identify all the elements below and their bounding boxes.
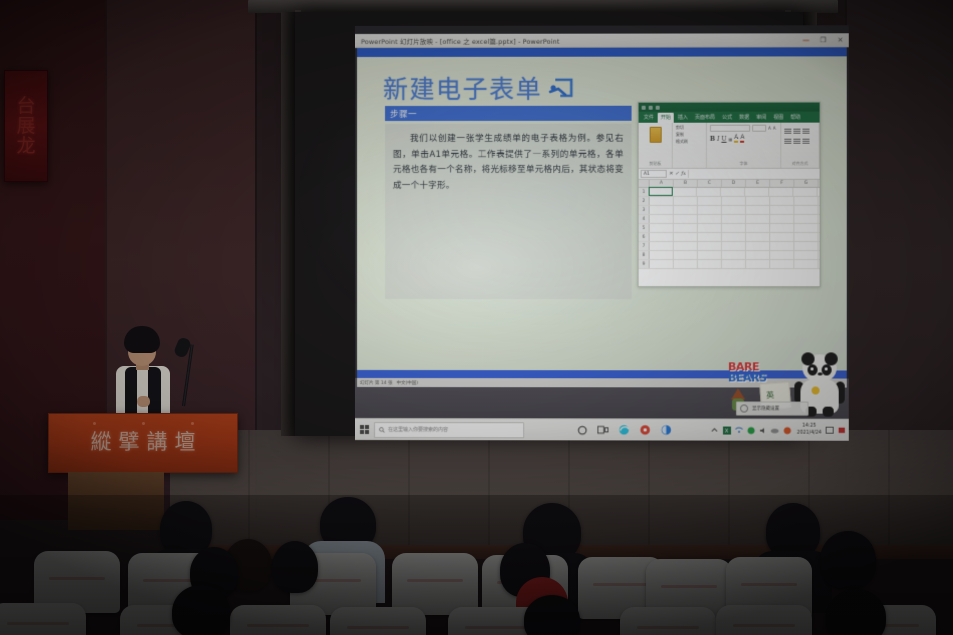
ribbon-group-label: 剪贴板 [639, 161, 672, 167]
column-header-g[interactable]: G [794, 180, 818, 187]
cell-f3[interactable] [770, 206, 794, 214]
excel-ribbon: 剪贴板 剪切 复制 格式刷 A [639, 123, 820, 169]
undo-icon [649, 105, 653, 109]
cell-e4[interactable] [746, 215, 770, 223]
ribbon-group-clipboard-commands: 剪切 复制 格式刷 [673, 123, 707, 168]
cell-g7[interactable] [794, 242, 818, 250]
svg-text:X: X [725, 428, 729, 434]
podium-char: 擘 [119, 432, 140, 453]
borders-icon[interactable]: ▦ [729, 136, 733, 141]
align-top-icon[interactable] [784, 129, 791, 135]
cell-f7[interactable] [770, 242, 794, 250]
screen-left-edge [281, 12, 295, 436]
cell-c3[interactable] [698, 206, 722, 214]
windows-logo-icon [359, 425, 368, 434]
row-header-5[interactable]: 5 [639, 224, 650, 232]
network-icon[interactable] [734, 426, 743, 435]
save-icon [642, 105, 646, 109]
podium-char: 壇 [175, 432, 196, 453]
step-header-bar: 步骤一 [385, 106, 632, 121]
cell-d6[interactable] [722, 233, 746, 241]
excel-ribbon-tabs: 文件 开始 插入 页面布局 公式 数据 审阅 视图 帮助 [639, 112, 820, 123]
cell-c5[interactable] [698, 224, 722, 232]
seat [392, 553, 478, 615]
ribbon-group-label: 对齐方式 [781, 161, 818, 167]
bold-icon[interactable]: B [710, 135, 715, 142]
presentation-slide: 新建电子表单 步骤一 我们以创建一张学生成绩单 [357, 47, 847, 378]
cell-f5[interactable] [770, 224, 794, 232]
audience-head [272, 541, 318, 593]
table-row: 7 [639, 242, 820, 251]
slide-body-text: 我们以创建一张学生成绩单的电子表格为例。参见右图，单击A1单元格。工作表提供了一… [385, 124, 632, 194]
table-row: 8 [639, 251, 820, 260]
excel-tab-home[interactable]: 开始 [658, 113, 674, 123]
fill-color-icon[interactable]: A [734, 135, 738, 143]
excel-tab-insert[interactable]: 插入 [675, 113, 691, 123]
show-hidden-icons-chevron[interactable] [710, 426, 719, 435]
cell-c1[interactable] [697, 188, 721, 196]
excel-tab-page-layout[interactable]: 页面布局 [692, 113, 718, 123]
cell-b8[interactable] [674, 251, 698, 259]
align-bottom-icon[interactable] [802, 129, 809, 135]
cell-b1[interactable] [673, 188, 697, 196]
slide-title: 新建电子表单 [383, 70, 542, 106]
powerpoint-titlebar: PowerPoint 幻灯片放映 - [office 之 excel篇.pptx… [355, 33, 849, 48]
panda-badge [812, 387, 820, 395]
system-tray: X [710, 424, 848, 437]
cell-c9[interactable] [698, 260, 722, 268]
projected-desktop: PowerPoint 幻灯片放映 - [office 之 excel篇.pptx… [355, 25, 849, 441]
panda-leg-right [823, 407, 834, 417]
formula-input[interactable] [688, 170, 818, 178]
excel-tab-formulas[interactable]: 公式 [719, 113, 735, 123]
font-name-box[interactable] [710, 125, 750, 132]
cell-b2[interactable] [674, 197, 698, 205]
increase-font-icon[interactable]: A [768, 126, 771, 131]
redo-icon [656, 105, 660, 109]
panda-head [802, 354, 836, 382]
format-painter-label[interactable]: 格式刷 [676, 139, 688, 145]
copy-label[interactable]: 复制 [676, 132, 684, 138]
banner-char: 展 [16, 117, 35, 136]
cut-label[interactable]: 剪切 [676, 125, 684, 131]
maximize-button[interactable]: ❐ [815, 33, 832, 46]
audience-head [826, 589, 886, 635]
projection-screen-surface: PowerPoint 幻灯片放映 - [office 之 excel篇.pptx… [295, 12, 803, 436]
search-input[interactable]: 在这里输入你要搜索的内容 [374, 422, 524, 438]
popup-icon[interactable] [740, 404, 748, 412]
window-title: PowerPoint 幻灯片放映 - [office 之 excel篇.pptx… [361, 35, 560, 45]
excel-tab-file[interactable]: 文件 [641, 113, 657, 123]
task-view-icon[interactable] [593, 419, 612, 441]
cell-a2[interactable] [650, 197, 674, 205]
cell-a7[interactable] [650, 242, 674, 250]
podium-banner-text: 縱 擘 講 壇 [49, 432, 237, 453]
audience-head [820, 531, 876, 589]
align-right-icon[interactable] [802, 139, 809, 145]
close-button[interactable]: ✕ [832, 33, 849, 46]
ribbon-group-alignment: 对齐方式 [781, 123, 819, 168]
cell-d2[interactable] [722, 197, 746, 205]
column-header-b[interactable]: B [674, 180, 698, 187]
table-row: 9 [639, 260, 820, 269]
panda-nose [818, 372, 823, 375]
cloud-sync-icon[interactable] [771, 426, 780, 435]
cell-b3[interactable] [674, 206, 698, 214]
seat [0, 603, 86, 635]
excel-tray-icon[interactable]: X [722, 426, 731, 435]
cell-a9[interactable] [650, 260, 674, 268]
window-controls: — ❐ ✕ [797, 33, 848, 46]
seat [230, 605, 326, 635]
cell-e7[interactable] [746, 242, 770, 250]
projection-screen-assembly: PowerPoint 幻灯片放映 - [office 之 excel篇.pptx… [243, 0, 843, 440]
slide-number-status: 幻灯片 第 14 张 [360, 380, 393, 386]
clock-date: 2021/4/24 [797, 430, 822, 437]
panda-eye-left [808, 364, 818, 375]
presenter-person [110, 326, 186, 418]
table-row: 4 [639, 215, 820, 224]
seat [716, 605, 812, 635]
audience-seating [0, 495, 953, 635]
cell-c4[interactable] [698, 215, 722, 223]
cell-a4[interactable] [650, 215, 674, 223]
excel-screenshot: 文件 开始 插入 页面布局 公式 数据 审阅 视图 帮助 [638, 102, 821, 288]
search-placeholder: 在这里输入你要搜索的内容 [388, 426, 448, 433]
column-header-a[interactable]: A [650, 180, 674, 187]
cell-a8[interactable] [650, 251, 674, 259]
table-row: 1 [639, 188, 820, 197]
cell-a5[interactable] [650, 224, 674, 232]
slide-title-row: 新建电子表单 [383, 70, 574, 106]
input-method-icon[interactable] [747, 426, 756, 435]
cell-f8[interactable] [770, 251, 794, 259]
slide-body-box: 我们以创建一张学生成绩单的电子表格为例。参见右图，单击A1单元格。工作表提供了一… [385, 124, 632, 299]
row-header-2[interactable]: 2 [639, 197, 650, 205]
cell-g4[interactable] [794, 215, 818, 223]
table-row: 3 [639, 206, 820, 215]
podium-char: 講 [147, 432, 168, 453]
presenter-hair [124, 326, 160, 353]
seat [330, 607, 426, 635]
show-desktop-button[interactable] [837, 426, 846, 435]
table-row: 2 [639, 197, 820, 206]
cell-f2[interactable] [770, 197, 794, 205]
tray-overflow-popup: 显示隐藏设置 [736, 401, 808, 415]
seat [620, 607, 716, 635]
cell-c2[interactable] [698, 197, 722, 205]
excel-tab-help[interactable]: 帮助 [787, 113, 803, 123]
cell-g8[interactable] [794, 251, 818, 259]
cell-f6[interactable] [770, 233, 794, 241]
wall-banner: 台 展 龙 [4, 70, 48, 182]
row-header-8[interactable]: 8 [639, 251, 650, 259]
ribbon-group-clipboard: 剪贴板 [639, 123, 673, 168]
cell-e5[interactable] [746, 224, 770, 232]
confirm-icon[interactable]: ✓ [675, 171, 679, 177]
column-header-e[interactable]: E [746, 180, 770, 187]
select-all-corner[interactable] [639, 180, 650, 187]
column-header-c[interactable]: C [698, 180, 722, 187]
underline-icon[interactable]: U [721, 135, 726, 142]
cell-f1[interactable] [769, 188, 793, 196]
panda-eye-right [822, 364, 832, 375]
insert-function-icon[interactable]: fx [681, 171, 686, 177]
cell-d9[interactable] [722, 260, 746, 268]
windows-taskbar: 在这里输入你要搜索的内容 [355, 418, 849, 441]
row-header-3[interactable]: 3 [639, 206, 650, 214]
cortana-icon[interactable] [572, 419, 591, 441]
language-status: 中文(中国) [397, 380, 419, 386]
media-app-icon[interactable] [636, 419, 655, 441]
cell-g3[interactable] [794, 206, 818, 214]
cell-a3[interactable] [650, 206, 674, 214]
step-header-label: 步骤一 [390, 107, 417, 119]
cell-d8[interactable] [722, 251, 746, 259]
minimize-button[interactable]: — [797, 33, 814, 46]
decrease-font-icon[interactable]: A [773, 126, 776, 131]
cell-b6[interactable] [674, 233, 698, 241]
cell-g5[interactable] [794, 224, 818, 232]
cell-f9[interactable] [770, 260, 794, 268]
paper-character: 英 [766, 390, 775, 402]
excel-quick-access-toolbar [639, 103, 820, 112]
excel-tab-view[interactable]: 视图 [770, 113, 786, 123]
column-header-f[interactable]: F [770, 180, 794, 187]
cell-e6[interactable] [746, 233, 770, 241]
podium-char: 縱 [91, 432, 112, 453]
cell-e8[interactable] [746, 251, 770, 259]
edge-browser-icon[interactable] [614, 419, 633, 441]
cell-e2[interactable] [746, 197, 770, 205]
excel-tab-data[interactable]: 数据 [736, 113, 752, 123]
banner-char: 龙 [16, 137, 35, 156]
cell-d7[interactable] [722, 242, 746, 250]
cell-f4[interactable] [770, 215, 794, 223]
browser-tray-icon[interactable] [783, 426, 792, 435]
spreadsheet-hand-icon [548, 76, 574, 100]
font-size-box[interactable] [752, 125, 766, 132]
cell-b9[interactable] [674, 260, 698, 268]
lecture-hall-scene: 台 展 龙 PowerPoint 幻灯片放映 - [office 之 excel… [0, 0, 953, 635]
presenter-vest-opening [137, 370, 148, 418]
taskbar-clock[interactable]: 14:25 2021/4/24 [797, 424, 822, 437]
align-center-icon[interactable] [793, 139, 800, 145]
podium-decor-dots [49, 422, 237, 425]
cell-c7[interactable] [698, 242, 722, 250]
ribbon-group-font: A A B I U ▦ A A [707, 123, 781, 168]
table-row: 6 [639, 233, 820, 242]
cell-g6[interactable] [794, 233, 818, 241]
cell-d4[interactable] [722, 215, 746, 223]
cell-c8[interactable] [698, 251, 722, 259]
action-center-icon[interactable] [825, 426, 834, 435]
cell-g1[interactable] [793, 188, 817, 196]
cell-d1[interactable] [721, 188, 745, 196]
cell-a6[interactable] [650, 233, 674, 241]
row-header-7[interactable]: 7 [639, 242, 650, 250]
audience-head [172, 585, 230, 635]
align-left-icon[interactable] [784, 139, 791, 145]
excel-tab-review[interactable]: 审阅 [753, 113, 769, 123]
cell-b4[interactable] [674, 215, 698, 223]
stage-area: 縱 擘 講 壇 [48, 320, 258, 520]
row-header-9[interactable]: 9 [639, 260, 650, 268]
cell-b7[interactable] [674, 242, 698, 250]
presenter-hand [137, 396, 150, 407]
row-header-4[interactable]: 4 [639, 215, 650, 223]
search-icon [379, 427, 385, 433]
tray-popup-label: 显示隐藏设置 [752, 406, 779, 412]
ribbon-group-label: 字体 [707, 161, 780, 167]
cell-d5[interactable] [722, 224, 746, 232]
volume-icon[interactable] [759, 426, 768, 435]
cell-e3[interactable] [746, 206, 770, 214]
font-color-icon[interactable]: A [740, 135, 744, 143]
excel-grid: A B C D E F G 1 [639, 180, 820, 280]
column-header-d[interactable]: D [722, 180, 746, 187]
cell-e1[interactable] [745, 188, 769, 196]
cell-c6[interactable] [698, 233, 722, 241]
browser-app-icon[interactable] [657, 419, 676, 441]
cell-g2[interactable] [794, 197, 818, 205]
cell-a1[interactable] [649, 187, 673, 196]
start-button[interactable] [355, 419, 373, 441]
podium: 縱 擘 講 壇 [48, 413, 238, 473]
taskbar-center-icons [572, 419, 675, 441]
align-middle-icon[interactable] [793, 129, 800, 135]
paste-icon[interactable] [649, 127, 661, 143]
italic-icon[interactable]: I [717, 135, 719, 142]
cancel-icon[interactable]: ✕ [669, 171, 673, 177]
cell-g9[interactable] [794, 260, 818, 268]
row-header-6[interactable]: 6 [639, 233, 650, 241]
excel-formula-bar-row: A1 ✕ ✓ fx [639, 169, 820, 180]
cell-e9[interactable] [746, 260, 770, 268]
cell-b5[interactable] [674, 224, 698, 232]
name-box[interactable]: A1 [641, 170, 667, 178]
banner-char: 台 [16, 97, 35, 116]
cell-d3[interactable] [722, 206, 746, 214]
table-row: 5 [639, 224, 820, 233]
